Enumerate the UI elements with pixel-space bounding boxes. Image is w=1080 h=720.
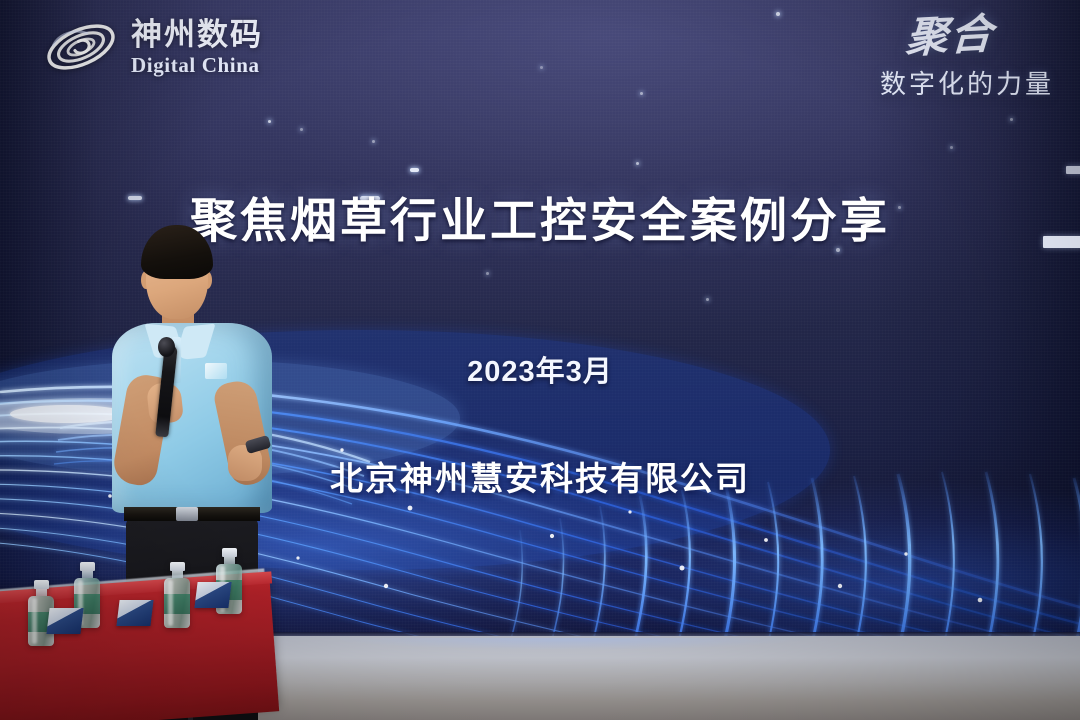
bottle-body	[164, 578, 190, 628]
event-tagline: 数字化的力量	[880, 64, 1054, 101]
speaker-shirt-logo-icon	[205, 363, 227, 379]
event-lockup: 聚合 数字化的力量	[880, 18, 1054, 101]
bottle-cap	[222, 548, 237, 557]
conference-photo: 神州数码 Digital China 聚合 数字化的力量 聚焦烟草行业工控安全案…	[0, 0, 1080, 720]
bottle-cap	[170, 562, 185, 571]
brand-wordmark: 神州数码 Digital China	[131, 19, 263, 76]
speaker-hair	[141, 225, 213, 279]
bottle-neck	[36, 589, 47, 596]
microphone-head-icon	[158, 337, 175, 357]
name-card	[194, 582, 231, 608]
swirl-orbit-logo-icon	[42, 16, 120, 78]
brand-name-en: Digital China	[131, 55, 263, 76]
bottle-neck	[172, 571, 183, 578]
speaker-belt-buckle	[176, 507, 198, 521]
water-bottle	[164, 562, 190, 628]
brand-name-cn: 神州数码	[131, 19, 263, 50]
bottle-neck	[224, 557, 235, 564]
bottle-highlight	[168, 580, 173, 626]
brand-logo: 神州数码 Digital China	[42, 16, 263, 78]
name-card	[46, 608, 83, 634]
event-calligraphy: 聚合	[905, 16, 995, 60]
accent-bar-upper-right	[1066, 166, 1080, 174]
name-card	[116, 600, 153, 626]
bottle-neck	[82, 571, 93, 578]
bottle-cap	[34, 580, 49, 589]
bottle-highlight	[32, 598, 37, 644]
bottle-cap	[80, 562, 95, 571]
